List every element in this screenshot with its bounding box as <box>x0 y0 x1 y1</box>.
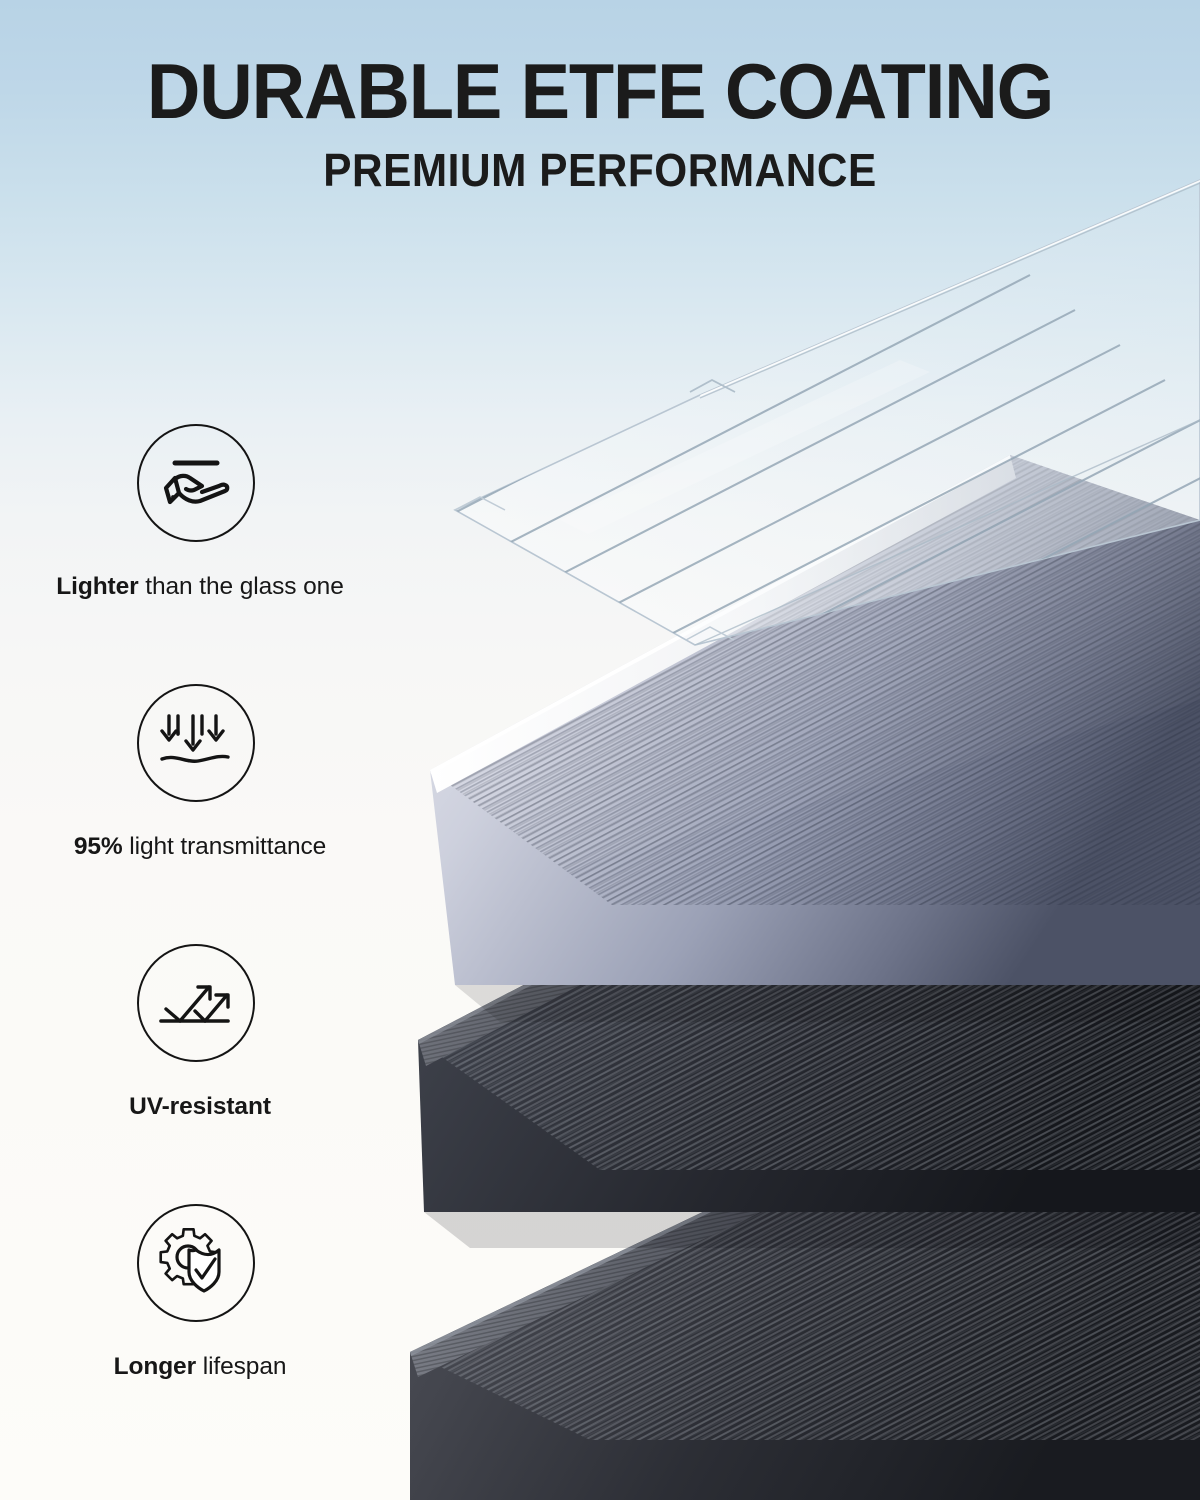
header-block: DURABLE ETFE COATING PREMIUM PERFORMANCE <box>0 0 1200 193</box>
feature-rest: light transmittance <box>123 833 327 860</box>
feature-emphasis: 95% <box>74 833 123 860</box>
feature-list: Lighter than the glass one <box>0 424 420 1464</box>
uv-reflect-arrows-icon <box>137 944 255 1062</box>
light-transmittance-arrows-icon <box>137 684 255 802</box>
page-subtitle: PREMIUM PERFORMANCE <box>48 129 1152 193</box>
feature-item-uv-resistant: UV-resistant <box>0 944 420 1204</box>
feature-item-longer-lifespan: Longer lifespan <box>0 1204 420 1464</box>
feature-item-lighter: Lighter than the glass one <box>0 424 420 684</box>
gear-shield-check-icon <box>137 1204 255 1322</box>
feature-item-transmittance: 95% light transmittance <box>0 684 420 944</box>
feature-label-uv-resistant: UV-resistant <box>0 1092 400 1123</box>
page-title: DURABLE ETFE COATING <box>30 0 1170 129</box>
feature-emphasis: UV-resistant <box>129 1093 271 1120</box>
feature-rest: than the glass one <box>139 573 344 600</box>
feature-label-transmittance: 95% light transmittance <box>0 832 400 863</box>
feature-emphasis: Lighter <box>56 573 138 600</box>
feature-label-lighter: Lighter than the glass one <box>0 572 400 603</box>
feature-rest: lifespan <box>196 1353 286 1380</box>
hand-holding-light-icon <box>137 424 255 542</box>
infographic-page: DURABLE ETFE COATING PREMIUM PERFORMANCE… <box>0 0 1200 1500</box>
feature-label-longer-lifespan: Longer lifespan <box>0 1352 400 1383</box>
feature-emphasis: Longer <box>114 1353 196 1380</box>
